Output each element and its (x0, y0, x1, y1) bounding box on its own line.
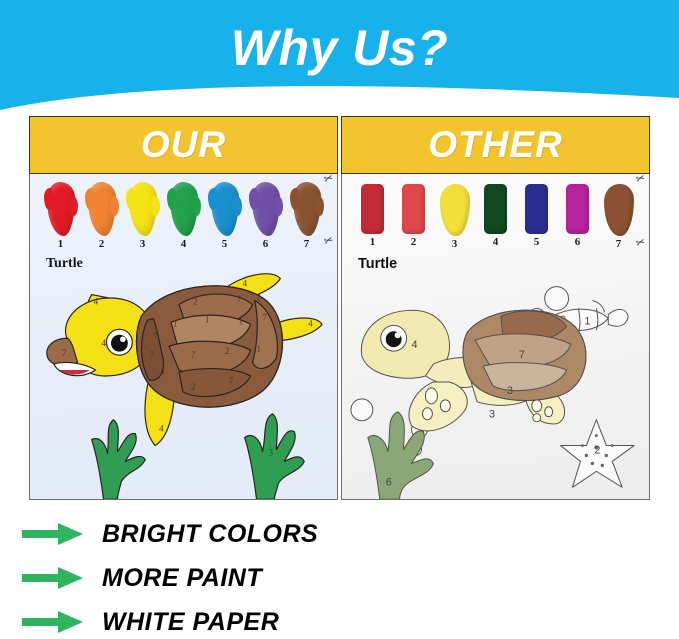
benefit-label: MORE PAINT (102, 564, 262, 593)
svg-text:4: 4 (102, 338, 107, 348)
svg-text:1: 1 (257, 344, 261, 354)
panel-our-swatch-strip: 1 2 3 4 5 (30, 174, 337, 258)
page-title: Why Us? (0, 20, 679, 76)
panel-other-paper: 1 2 3 4 5 (341, 174, 650, 500)
panel-other: OTHER 1 2 3 (341, 116, 650, 500)
svg-text:2: 2 (153, 326, 157, 336)
why-us-infographic: Why Us? OUR 1 2 (0, 0, 679, 639)
paint-chip-1 (361, 184, 384, 234)
svg-text:1: 1 (584, 315, 590, 327)
comparison-panels: OUR 1 2 3 (0, 116, 679, 500)
paint-blob-6 (252, 182, 280, 236)
paint-chip-3 (440, 184, 470, 236)
panel-our-header-label: OUR (141, 124, 226, 166)
swatch-item: 7 (289, 182, 325, 250)
svg-text:7: 7 (149, 350, 154, 360)
swatch-number: 3 (437, 238, 473, 250)
svg-text:2: 2 (191, 382, 195, 392)
paint-blob-4 (170, 182, 198, 236)
swatch-number: 4 (166, 238, 202, 250)
panel-our-paper: 1 2 3 4 5 (29, 174, 338, 500)
paint-chip-5 (525, 184, 548, 234)
svg-text:3: 3 (489, 409, 495, 421)
turtle-drawing-colored: 4 4 4 4 4 7 2 7 2 1 1 1 7 (30, 254, 337, 500)
benefit-item: MORE PAINT (22, 558, 262, 598)
svg-text:1: 1 (161, 366, 165, 376)
svg-text:3: 3 (507, 385, 513, 397)
paint-blob-5 (211, 182, 239, 236)
swatch-number: 2 (84, 238, 120, 250)
swatch-number: 1 (43, 238, 79, 250)
swatch-item: 2 (84, 182, 120, 250)
svg-text:7: 7 (519, 349, 525, 361)
swatch-number: 5 (207, 238, 243, 250)
paint-blob-2 (88, 182, 116, 236)
svg-text:1: 1 (205, 314, 209, 324)
swatch-number: 2 (396, 236, 432, 248)
panel-other-header-label: OTHER (428, 124, 563, 166)
swatch-item: 1 (43, 182, 79, 250)
paint-chip-6 (566, 184, 589, 234)
panel-other-artwork: Turtle (342, 254, 649, 500)
swatch-number: 1 (355, 236, 391, 248)
panel-our-artwork: Turtle (30, 254, 337, 500)
swatch-item: 3 (437, 182, 473, 250)
swatch-item: 5 (519, 182, 555, 248)
svg-text:6: 6 (386, 476, 392, 488)
svg-text:7: 7 (262, 312, 267, 322)
swatch-item: 2 (396, 182, 432, 248)
swatch-item: 4 (478, 182, 514, 248)
svg-text:7: 7 (62, 348, 67, 358)
turtle-drawing-faded: 4 7 3 3 1 2 6 (342, 254, 649, 500)
arrow-right-icon (22, 522, 84, 546)
panel-our: OUR 1 2 3 (29, 116, 338, 500)
swatch-number: 3 (125, 238, 161, 250)
swatch-number: 6 (248, 238, 284, 250)
panel-other-header: OTHER (341, 116, 650, 174)
svg-text:4: 4 (243, 279, 248, 289)
svg-text:1: 1 (173, 318, 177, 328)
benefit-item: WHITE PAPER (22, 602, 279, 639)
swatch-number: 6 (560, 236, 596, 248)
svg-text:2: 2 (257, 292, 261, 302)
paint-chip-4 (484, 184, 507, 234)
swatch-number: 5 (519, 236, 555, 248)
arrow-right-icon (22, 566, 84, 590)
svg-text:1: 1 (239, 316, 243, 326)
paint-blob-3 (129, 182, 157, 236)
swatch-number: 4 (478, 236, 514, 248)
benefit-label: BRIGHT COLORS (102, 520, 318, 549)
swatch-item: 6 (248, 182, 284, 250)
swatch-item: 7 (601, 182, 637, 250)
svg-text:2: 2 (594, 445, 600, 457)
swatch-number: 7 (289, 238, 325, 250)
paint-blob-1 (47, 182, 75, 236)
swatch-item: 5 (207, 182, 243, 250)
svg-text:7: 7 (191, 350, 196, 360)
svg-text:7: 7 (229, 376, 234, 386)
header-banner: Why Us? (0, 0, 679, 122)
arrow-right-icon (22, 610, 84, 634)
swatch-item: 1 (355, 182, 391, 248)
svg-text:3: 3 (268, 447, 273, 457)
paint-chip-2 (402, 184, 425, 234)
svg-text:2: 2 (193, 296, 197, 306)
svg-text:7: 7 (237, 294, 242, 304)
swatch-item: 4 (166, 182, 202, 250)
panel-our-header: OUR (29, 116, 338, 174)
panel-other-swatch-strip: 1 2 3 4 5 (342, 174, 649, 258)
svg-text:2: 2 (225, 346, 229, 356)
benefits-list: BRIGHT COLORS MORE PAINT WHITE PAPER (0, 508, 679, 639)
paint-chip-7 (604, 184, 634, 236)
benefit-label: WHITE PAPER (102, 608, 279, 637)
swatch-item: 3 (125, 182, 161, 250)
svg-text:4: 4 (412, 339, 418, 351)
svg-text:4: 4 (94, 296, 99, 306)
svg-text:4: 4 (159, 424, 164, 434)
swatch-number: 7 (601, 238, 637, 250)
benefit-item: BRIGHT COLORS (22, 514, 318, 554)
paint-blob-7 (293, 182, 321, 236)
swatch-item: 6 (560, 182, 596, 248)
svg-text:4: 4 (308, 318, 313, 328)
